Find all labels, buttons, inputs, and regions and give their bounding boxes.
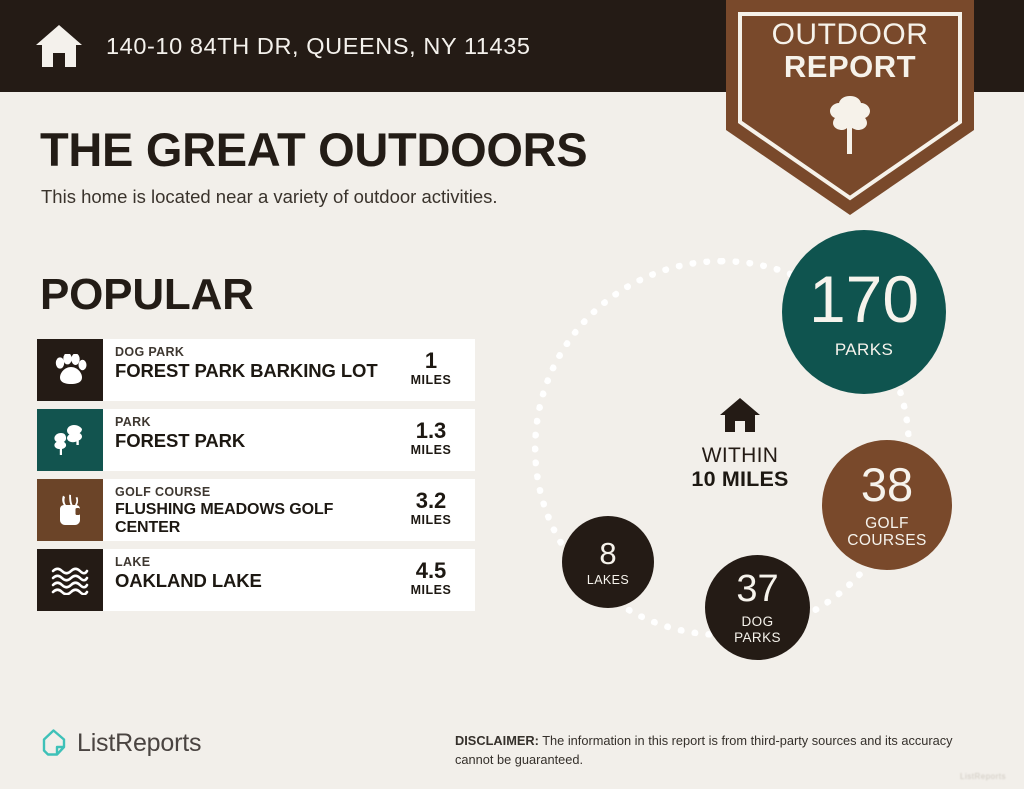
list-item-distance-unit: MILES (387, 443, 475, 457)
list-item-name: FOREST PARK BARKING LOT (115, 361, 387, 382)
outdoor-report-badge: OUTDOOR REPORT (726, 0, 974, 215)
badge-text-block: OUTDOOR REPORT (726, 20, 974, 82)
list-item[interactable]: PARK FOREST PARK 1.3 MILES (37, 409, 475, 471)
list-item-body: LAKE OAKLAND LAKE (103, 549, 387, 611)
page-subtitle: This home is located near a variety of o… (41, 186, 498, 208)
bubble-parks: 170 PARKS (782, 230, 946, 394)
list-item-name: FOREST PARK (115, 431, 387, 452)
amenities-bubble-diagram: 170 PARKS 38 GOLF COURSES 37 DOG PARKS 8… (520, 228, 1000, 678)
bubble-lakes: 8 LAKES (562, 516, 654, 608)
trees-icon (52, 424, 88, 456)
home-icon (34, 23, 84, 69)
bubble-lakes-label: LAKES (587, 574, 629, 587)
diagram-center-line-2: 10 MILES (650, 467, 830, 492)
list-item-body: DOG PARK FOREST PARK BARKING LOT (103, 339, 387, 401)
bubble-golf-courses-value: 38 (861, 461, 913, 508)
list-item-distance-value: 4.5 (387, 559, 475, 582)
list-item-body: GOLF COURSE FLUSHING MEADOWS GOLF CENTER (103, 479, 387, 541)
list-item-name: FLUSHING MEADOWS GOLF CENTER (115, 501, 387, 537)
diagram-center-line-1: WITHIN (650, 444, 830, 467)
page-title: THE GREAT OUTDOORS (40, 122, 587, 177)
listreports-logo-text: ListReports (77, 729, 201, 758)
listreports-logo[interactable]: ListReports (40, 728, 201, 758)
list-item-distance: 1 MILES (387, 339, 475, 401)
list-item[interactable]: LAKE OAKLAND LAKE 4.5 MILES (37, 549, 475, 611)
list-item-distance-unit: MILES (387, 583, 475, 597)
list-item-icon-tile (37, 339, 103, 401)
list-item-distance: 3.2 MILES (387, 479, 475, 541)
bubble-dog-parks: 37 DOG PARKS (705, 555, 810, 660)
bubble-parks-label: PARKS (835, 341, 893, 358)
bubble-dog-parks-value: 37 (736, 570, 778, 608)
list-item-distance: 4.5 MILES (387, 549, 475, 611)
list-item-category: LAKE (115, 556, 387, 570)
bubble-dog-parks-label: DOG PARKS (734, 614, 781, 644)
list-item-category: GOLF COURSE (115, 486, 387, 500)
bubble-dog-parks-label-line1: DOG (734, 614, 781, 629)
paw-icon (53, 354, 87, 386)
list-item-distance-value: 1 (387, 349, 475, 372)
list-item[interactable]: DOG PARK FOREST PARK BARKING LOT 1 MILES (37, 339, 475, 401)
golf-bag-icon (55, 493, 85, 527)
disclaimer: DISCLAIMER: The information in this repo… (455, 732, 983, 769)
list-item-distance-unit: MILES (387, 513, 475, 527)
popular-list: DOG PARK FOREST PARK BARKING LOT 1 MILES… (37, 339, 475, 619)
bubble-golf-label-line1: GOLF (847, 515, 926, 532)
list-item-category: DOG PARK (115, 346, 387, 360)
waves-icon (51, 565, 89, 595)
bubble-golf-courses-label: GOLF COURSES (847, 515, 926, 550)
listreports-house-tag-icon (40, 728, 68, 758)
diagram-center-label: WITHIN 10 MILES (650, 396, 830, 492)
badge-line-2: REPORT (726, 51, 974, 83)
bubble-parks-value: 170 (809, 266, 919, 332)
list-item-icon-tile (37, 409, 103, 471)
watermark: ListReports (960, 772, 1006, 781)
list-item-name: OAKLAND LAKE (115, 571, 387, 592)
bubble-dog-parks-label-line2: PARKS (734, 630, 781, 645)
list-item-category: PARK (115, 416, 387, 430)
disclaimer-label: DISCLAIMER: (455, 733, 539, 748)
list-item[interactable]: GOLF COURSE FLUSHING MEADOWS GOLF CENTER… (37, 479, 475, 541)
property-address: 140-10 84TH DR, QUEENS, NY 11435 (106, 33, 531, 60)
badge-line-1: OUTDOOR (726, 20, 974, 51)
list-item-distance-value: 3.2 (387, 489, 475, 512)
list-item-icon-tile (37, 479, 103, 541)
list-item-distance-value: 1.3 (387, 419, 475, 442)
bubble-golf-courses: 38 GOLF COURSES (822, 440, 952, 570)
list-item-distance: 1.3 MILES (387, 409, 475, 471)
list-item-icon-tile (37, 549, 103, 611)
bubble-golf-label-line2: COURSES (847, 532, 926, 549)
home-icon (719, 396, 761, 434)
list-item-distance-unit: MILES (387, 373, 475, 387)
section-title-popular: POPULAR (40, 270, 254, 320)
bubble-lakes-value: 8 (599, 538, 616, 569)
list-item-body: PARK FOREST PARK (103, 409, 387, 471)
